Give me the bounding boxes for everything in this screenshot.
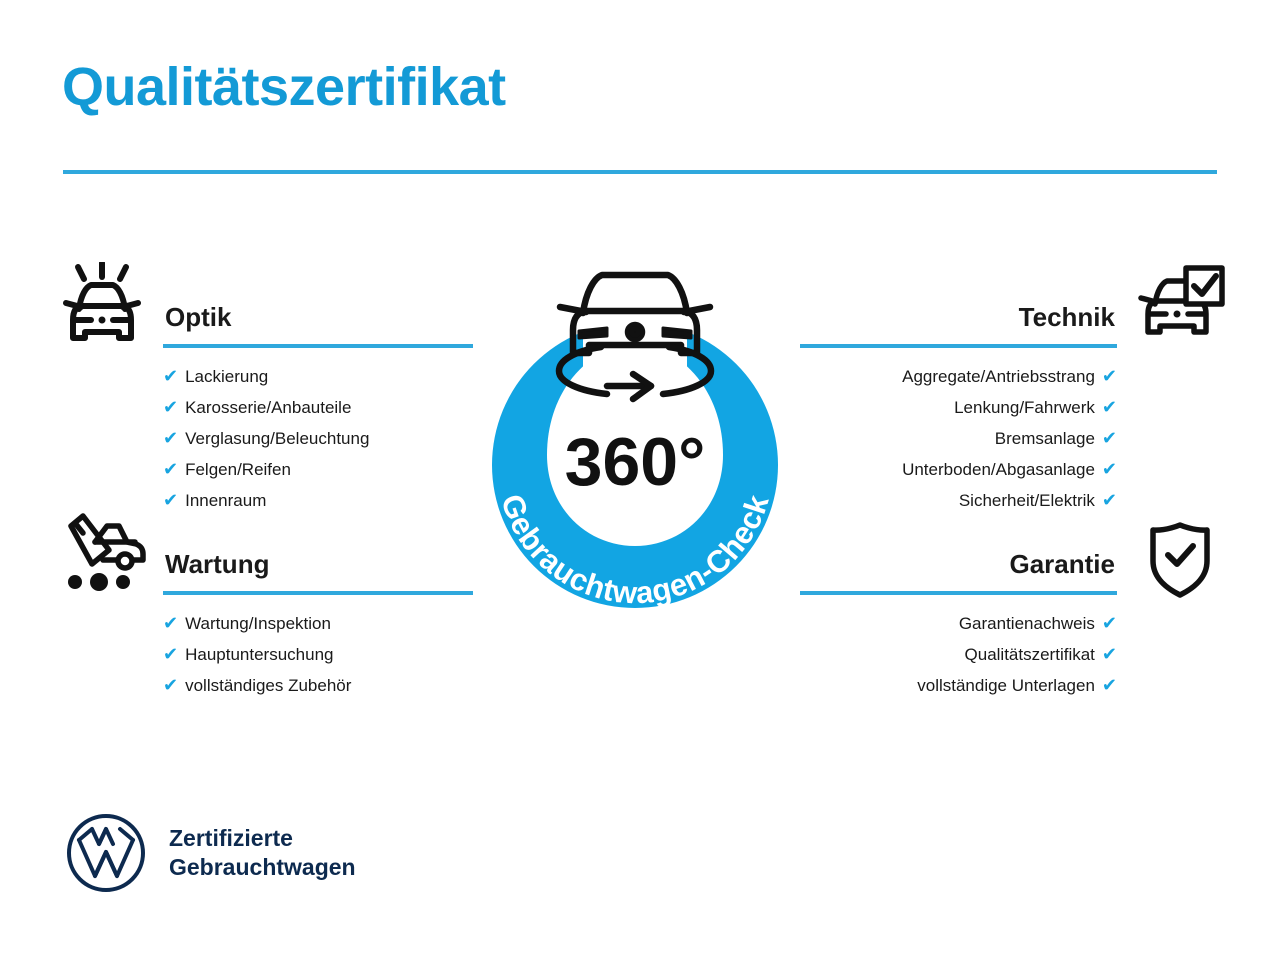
list-item: Unterboden/Abgasanlage✔ [800,454,1117,485]
list-item: ✔Karosserie/Anbauteile [163,392,473,423]
section-title: Optik [163,300,473,334]
list-item: vollständige Unterlagen✔ [800,670,1117,701]
list-item: ✔Wartung/Inspektion [163,608,473,639]
list-item-label: Hauptuntersuchung [185,645,333,664]
check-icon: ✔ [1102,490,1117,510]
page-title: Qualitätszertifikat [62,58,506,117]
footer-line-1: Zertifizierte [169,824,356,853]
check-icon: ✔ [1102,397,1117,417]
shield-check-icon [1147,521,1213,599]
list-item-label: Lenkung/Fahrwerk [954,398,1095,417]
section-technik: Technik Aggregate/Antriebsstrang✔ Lenkun… [800,300,1117,516]
section-header-wartung: Wartung [163,547,473,595]
check-icon: ✔ [1102,644,1117,664]
list-item: ✔Hauptuntersuchung [163,639,473,670]
list-item-label: Wartung/Inspektion [185,614,331,633]
list-item: ✔Verglasung/Beleuchtung [163,423,473,454]
list-item: Qualitätszertifikat✔ [800,639,1117,670]
list-item: Lenkung/Fahrwerk✔ [800,392,1117,423]
list-item: Sicherheit/Elektrik✔ [800,485,1117,516]
list-item-label: Qualitätszertifikat [965,645,1095,664]
car-checkbox-icon [1134,264,1226,346]
check-icon: ✔ [1102,459,1117,479]
section-header-garantie: Garantie [800,547,1117,595]
section-underline [800,591,1117,595]
section-title: Technik [800,300,1117,334]
list-item-label: Karosserie/Anbauteile [185,398,351,417]
list-item: ✔Felgen/Reifen [163,454,473,485]
check-icon: ✔ [163,397,178,417]
list-item-label: Innenraum [185,491,266,510]
section-title: Garantie [800,547,1117,581]
footer-line-2: Gebrauchtwagen [169,853,356,882]
section-title: Wartung [163,547,473,581]
list-item-label: vollständige Unterlagen [917,676,1095,695]
header-divider [63,170,1217,174]
list-item-label: vollständiges Zubehör [185,676,351,695]
list-item-label: Sicherheit/Elektrik [959,491,1095,510]
section-header-optik: Optik [163,300,473,348]
check-icon: ✔ [163,613,178,633]
section-list-wartung: ✔Wartung/Inspektion ✔Hauptuntersuchung ✔… [163,608,473,701]
list-item: ✔Lackierung [163,361,473,392]
check-icon: ✔ [163,490,178,510]
section-header-technik: Technik [800,300,1117,348]
check-icon: ✔ [163,644,178,664]
footer-branding: Zertifizierte Gebrauchtwagen [65,812,356,894]
car-shine-icon [57,262,147,348]
footer-text: Zertifizierte Gebrauchtwagen [169,824,356,882]
list-item-label: Felgen/Reifen [185,460,291,479]
list-item: ✔Innenraum [163,485,473,516]
section-list-technik: Aggregate/Antriebsstrang✔ Lenkung/Fahrwe… [800,361,1117,516]
section-underline [800,344,1117,348]
check-icon: ✔ [163,428,178,448]
check-icon: ✔ [1102,613,1117,633]
section-list-optik: ✔Lackierung ✔Karosserie/Anbauteile ✔Verg… [163,361,473,516]
check-icon: ✔ [1102,366,1117,386]
list-item: Garantienachweis✔ [800,608,1117,639]
car-service-pen-icon [57,512,149,594]
list-item-label: Bremsanlage [995,429,1095,448]
list-item-label: Aggregate/Antriebsstrang [902,367,1095,386]
list-item: Bremsanlage✔ [800,423,1117,454]
check-icon: ✔ [163,675,178,695]
section-underline [163,344,473,348]
list-item-label: Garantienachweis [959,614,1095,633]
section-garantie: Garantie Garantienachweis✔ Qualitätszert… [800,547,1117,701]
list-item: ✔vollständiges Zubehör [163,670,473,701]
section-underline [163,591,473,595]
badge-center-label: 360° [565,424,706,500]
volkswagen-logo [65,812,147,894]
list-item: Aggregate/Antriebsstrang✔ [800,361,1117,392]
list-item-label: Unterboden/Abgasanlage [902,460,1095,479]
check-icon: ✔ [1102,675,1117,695]
section-wartung: Wartung ✔Wartung/Inspektion ✔Hauptunters… [163,547,473,701]
section-optik: Optik ✔Lackierung ✔Karosserie/Anbauteile… [163,300,473,516]
section-list-garantie: Garantienachweis✔ Qualitätszertifikat✔ v… [800,608,1117,701]
list-item-label: Verglasung/Beleuchtung [185,429,369,448]
check-icon: ✔ [1102,428,1117,448]
badge-360-gebrauchtwagen-check: Gebrauchtwagen-Check 360° [455,250,815,620]
list-item-label: Lackierung [185,367,268,386]
check-icon: ✔ [163,459,178,479]
check-icon: ✔ [163,366,178,386]
